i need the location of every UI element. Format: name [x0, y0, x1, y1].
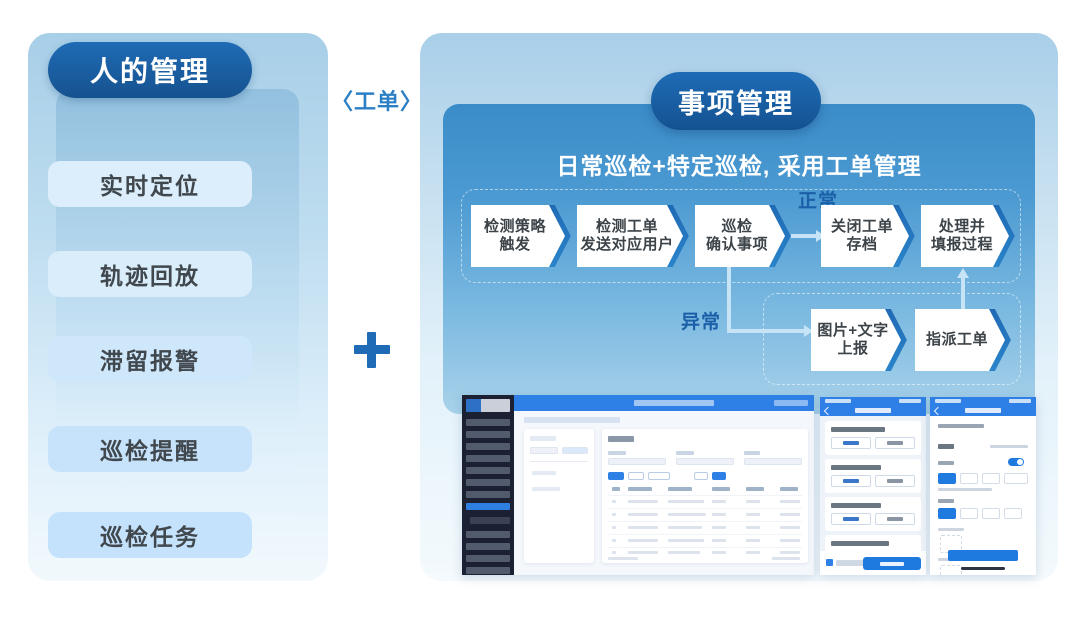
- work-order-connector-label: 〈工单〉: [331, 84, 417, 116]
- mockup-nav-item: [466, 491, 510, 498]
- mockup-user-area: [774, 400, 808, 406]
- workflow-diagram: 正常 异常 检测策略 触发 检测工单 发送对应用户 巡检 确认事项 关闭工单 存…: [443, 185, 1035, 400]
- flow-step-label: 指派工单: [926, 331, 1000, 349]
- flow-step-label: 检测策略 触发: [484, 218, 558, 255]
- mockup-nav-subitem: [470, 517, 510, 524]
- connector-arrow-up-to-process: [961, 277, 965, 313]
- mockup-nav-item: [466, 543, 510, 550]
- mockup-topbar: [514, 395, 814, 411]
- mockup-topbar-title: [634, 400, 714, 406]
- checklist-item: [825, 497, 921, 531]
- flow-step-close-archive[interactable]: 关闭工单 存档: [821, 205, 915, 267]
- right-panel-title-pill: 事项管理: [651, 72, 821, 130]
- answer-normal-button[interactable]: [831, 513, 871, 525]
- option-chip[interactable]: [960, 473, 978, 484]
- mockup-breadcrumb: [524, 417, 620, 423]
- sidebar-item-inspection-task[interactable]: 巡检任务: [48, 512, 252, 558]
- sidebar-item-track-playback[interactable]: 轨迹回放: [48, 251, 252, 297]
- mockup-status-bar: [820, 397, 926, 405]
- mockup-status-time: [935, 399, 961, 403]
- answer-abnormal-button[interactable]: [875, 437, 915, 449]
- sidebar-item-label: 滞留报警: [100, 342, 200, 376]
- mockup-nav-item-active: [466, 503, 510, 510]
- mockup-nav-item: [466, 567, 510, 574]
- draft-icon: [826, 559, 833, 566]
- mockup-sidebar: [462, 395, 514, 575]
- sidebar-item-label: 轨迹回放: [100, 257, 200, 291]
- left-panel-title-pill: 人的管理: [48, 42, 252, 98]
- flow-step-process-and-report[interactable]: 处理并 填报过程: [921, 205, 1015, 267]
- sidebar-item-label: 巡检提醒: [100, 432, 200, 466]
- mockup-nav-title: [965, 408, 1001, 413]
- mockup-nav-item: [466, 555, 510, 562]
- mockup-status-icons: [1009, 399, 1031, 403]
- flow-step-label: 检测工单 发送对应用户: [580, 218, 685, 255]
- flow-step-label: 处理并 填报过程: [931, 218, 1005, 255]
- flow-step-inspection-confirm[interactable]: 巡检 确认事项: [695, 205, 791, 267]
- draft-label: [836, 560, 866, 566]
- flow-step-label: 关闭工单 存档: [831, 218, 905, 255]
- option-chip-selected[interactable]: [938, 473, 956, 484]
- mockup-nav-bar: [820, 405, 926, 416]
- mockup-nav-item: [466, 443, 510, 450]
- sidebar-item-realtime-location[interactable]: 实时定位: [48, 161, 252, 207]
- mockup-nav-item: [466, 431, 510, 438]
- mockup-nav-bar: [930, 405, 1036, 416]
- checklist-item: [825, 421, 921, 455]
- connector-arrow-abnormal: [727, 329, 805, 333]
- option-chip[interactable]: [982, 473, 1000, 484]
- mockup-nav-item: [466, 467, 510, 474]
- plus-icon: [352, 330, 392, 370]
- mobile-checklist-mockup: [820, 397, 926, 575]
- checklist-item: [825, 459, 921, 493]
- mockup-nav-item: [466, 419, 510, 426]
- desktop-app-mockup: [462, 395, 814, 575]
- back-icon: [824, 407, 832, 415]
- mobile-form-mockup: [930, 397, 1036, 575]
- sidebar-item-inspection-reminder[interactable]: 巡检提醒: [48, 426, 252, 472]
- form-toggle[interactable]: [1008, 458, 1024, 466]
- connector-arrow-normal: [791, 234, 817, 238]
- flow-step-label: 图片+文字 上报: [817, 322, 900, 359]
- option-chip-selected[interactable]: [938, 508, 956, 519]
- flow-step-photo-text-report[interactable]: 图片+文字 上报: [811, 309, 907, 371]
- mockup-status-time: [825, 399, 851, 403]
- flow-step-assign-work-order[interactable]: 指派工单: [915, 309, 1011, 371]
- form-submit-button[interactable]: [948, 550, 1018, 561]
- right-panel-title-label: 事项管理: [678, 82, 794, 121]
- sidebar-item-label: 巡检任务: [100, 518, 200, 552]
- branch-label-abnormal: 异常: [681, 307, 721, 334]
- flow-step-detect-policy-trigger[interactable]: 检测策略 触发: [471, 205, 571, 267]
- answer-abnormal-button[interactable]: [875, 513, 915, 525]
- mockup-nav-item: [466, 531, 510, 538]
- option-chip[interactable]: [960, 508, 978, 519]
- home-indicator: [961, 567, 1005, 570]
- mockup-nav-title: [855, 408, 891, 413]
- submit-task-button[interactable]: [863, 557, 921, 570]
- flow-step-label: 巡检 确认事项: [706, 218, 780, 255]
- connector-line-abnormal-vertical: [727, 267, 731, 333]
- mockup-status-bar: [930, 397, 1036, 405]
- option-chip[interactable]: [1004, 508, 1022, 519]
- sidebar-item-stay-alarm[interactable]: 滞留报警: [48, 336, 252, 382]
- mockup-tree-card: [524, 429, 594, 563]
- right-panel-subtitle: 日常巡检+特定巡检, 采用工单管理: [443, 147, 1035, 181]
- sidebar-item-label: 实时定位: [100, 167, 200, 201]
- product-screenshots: [462, 395, 1052, 580]
- upload-photo-button[interactable]: [940, 565, 962, 575]
- option-chip[interactable]: [1004, 473, 1028, 484]
- option-chip[interactable]: [982, 508, 1000, 519]
- flow-step-send-work-order[interactable]: 检测工单 发送对应用户: [577, 205, 689, 267]
- back-icon: [934, 407, 942, 415]
- mockup-status-icons: [899, 399, 921, 403]
- mockup-logo: [466, 399, 510, 412]
- mockup-nav-item: [466, 479, 510, 486]
- left-panel-title-label: 人的管理: [90, 50, 210, 90]
- mockup-action-bar: [820, 551, 926, 575]
- answer-normal-button[interactable]: [831, 475, 871, 487]
- answer-abnormal-button[interactable]: [875, 475, 915, 487]
- mockup-form-body: [930, 416, 1036, 575]
- mockup-nav-item: [466, 455, 510, 462]
- answer-normal-button[interactable]: [831, 437, 871, 449]
- mockup-table-card: [602, 429, 808, 563]
- people-management-panel: [28, 33, 328, 581]
